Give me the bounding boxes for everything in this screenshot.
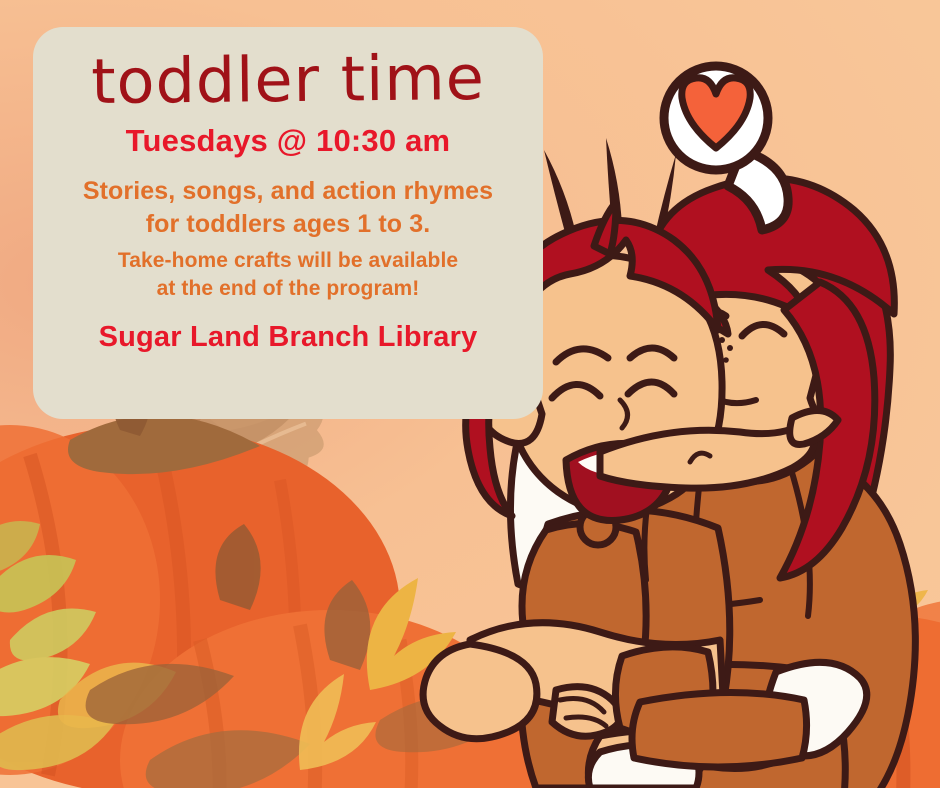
poster-canvas: toddler time Tuesdays @ 10:30 am Stories… — [0, 0, 940, 788]
description-line-1: Stories, songs, and action rhymes — [51, 175, 525, 208]
info-card: toddler time Tuesdays @ 10:30 am Stories… — [33, 27, 543, 419]
note-line-1: Take-home crafts will be available — [51, 247, 525, 275]
woman-waistband — [632, 692, 807, 767]
description-block: Stories, songs, and action rhymes for to… — [51, 175, 525, 241]
page-title: toddler time — [51, 39, 526, 116]
description-line-2: for toddlers ages 1 to 3. — [51, 208, 525, 241]
schedule-text: Tuesdays @ 10:30 am — [51, 123, 525, 159]
child-hair-spike — [594, 202, 616, 254]
venue-name: Sugar Land Branch Library — [51, 321, 525, 354]
woman-hand — [423, 644, 537, 739]
note-block: Take-home crafts will be available at th… — [51, 247, 525, 303]
note-line-2: at the end of the program! — [51, 275, 525, 303]
